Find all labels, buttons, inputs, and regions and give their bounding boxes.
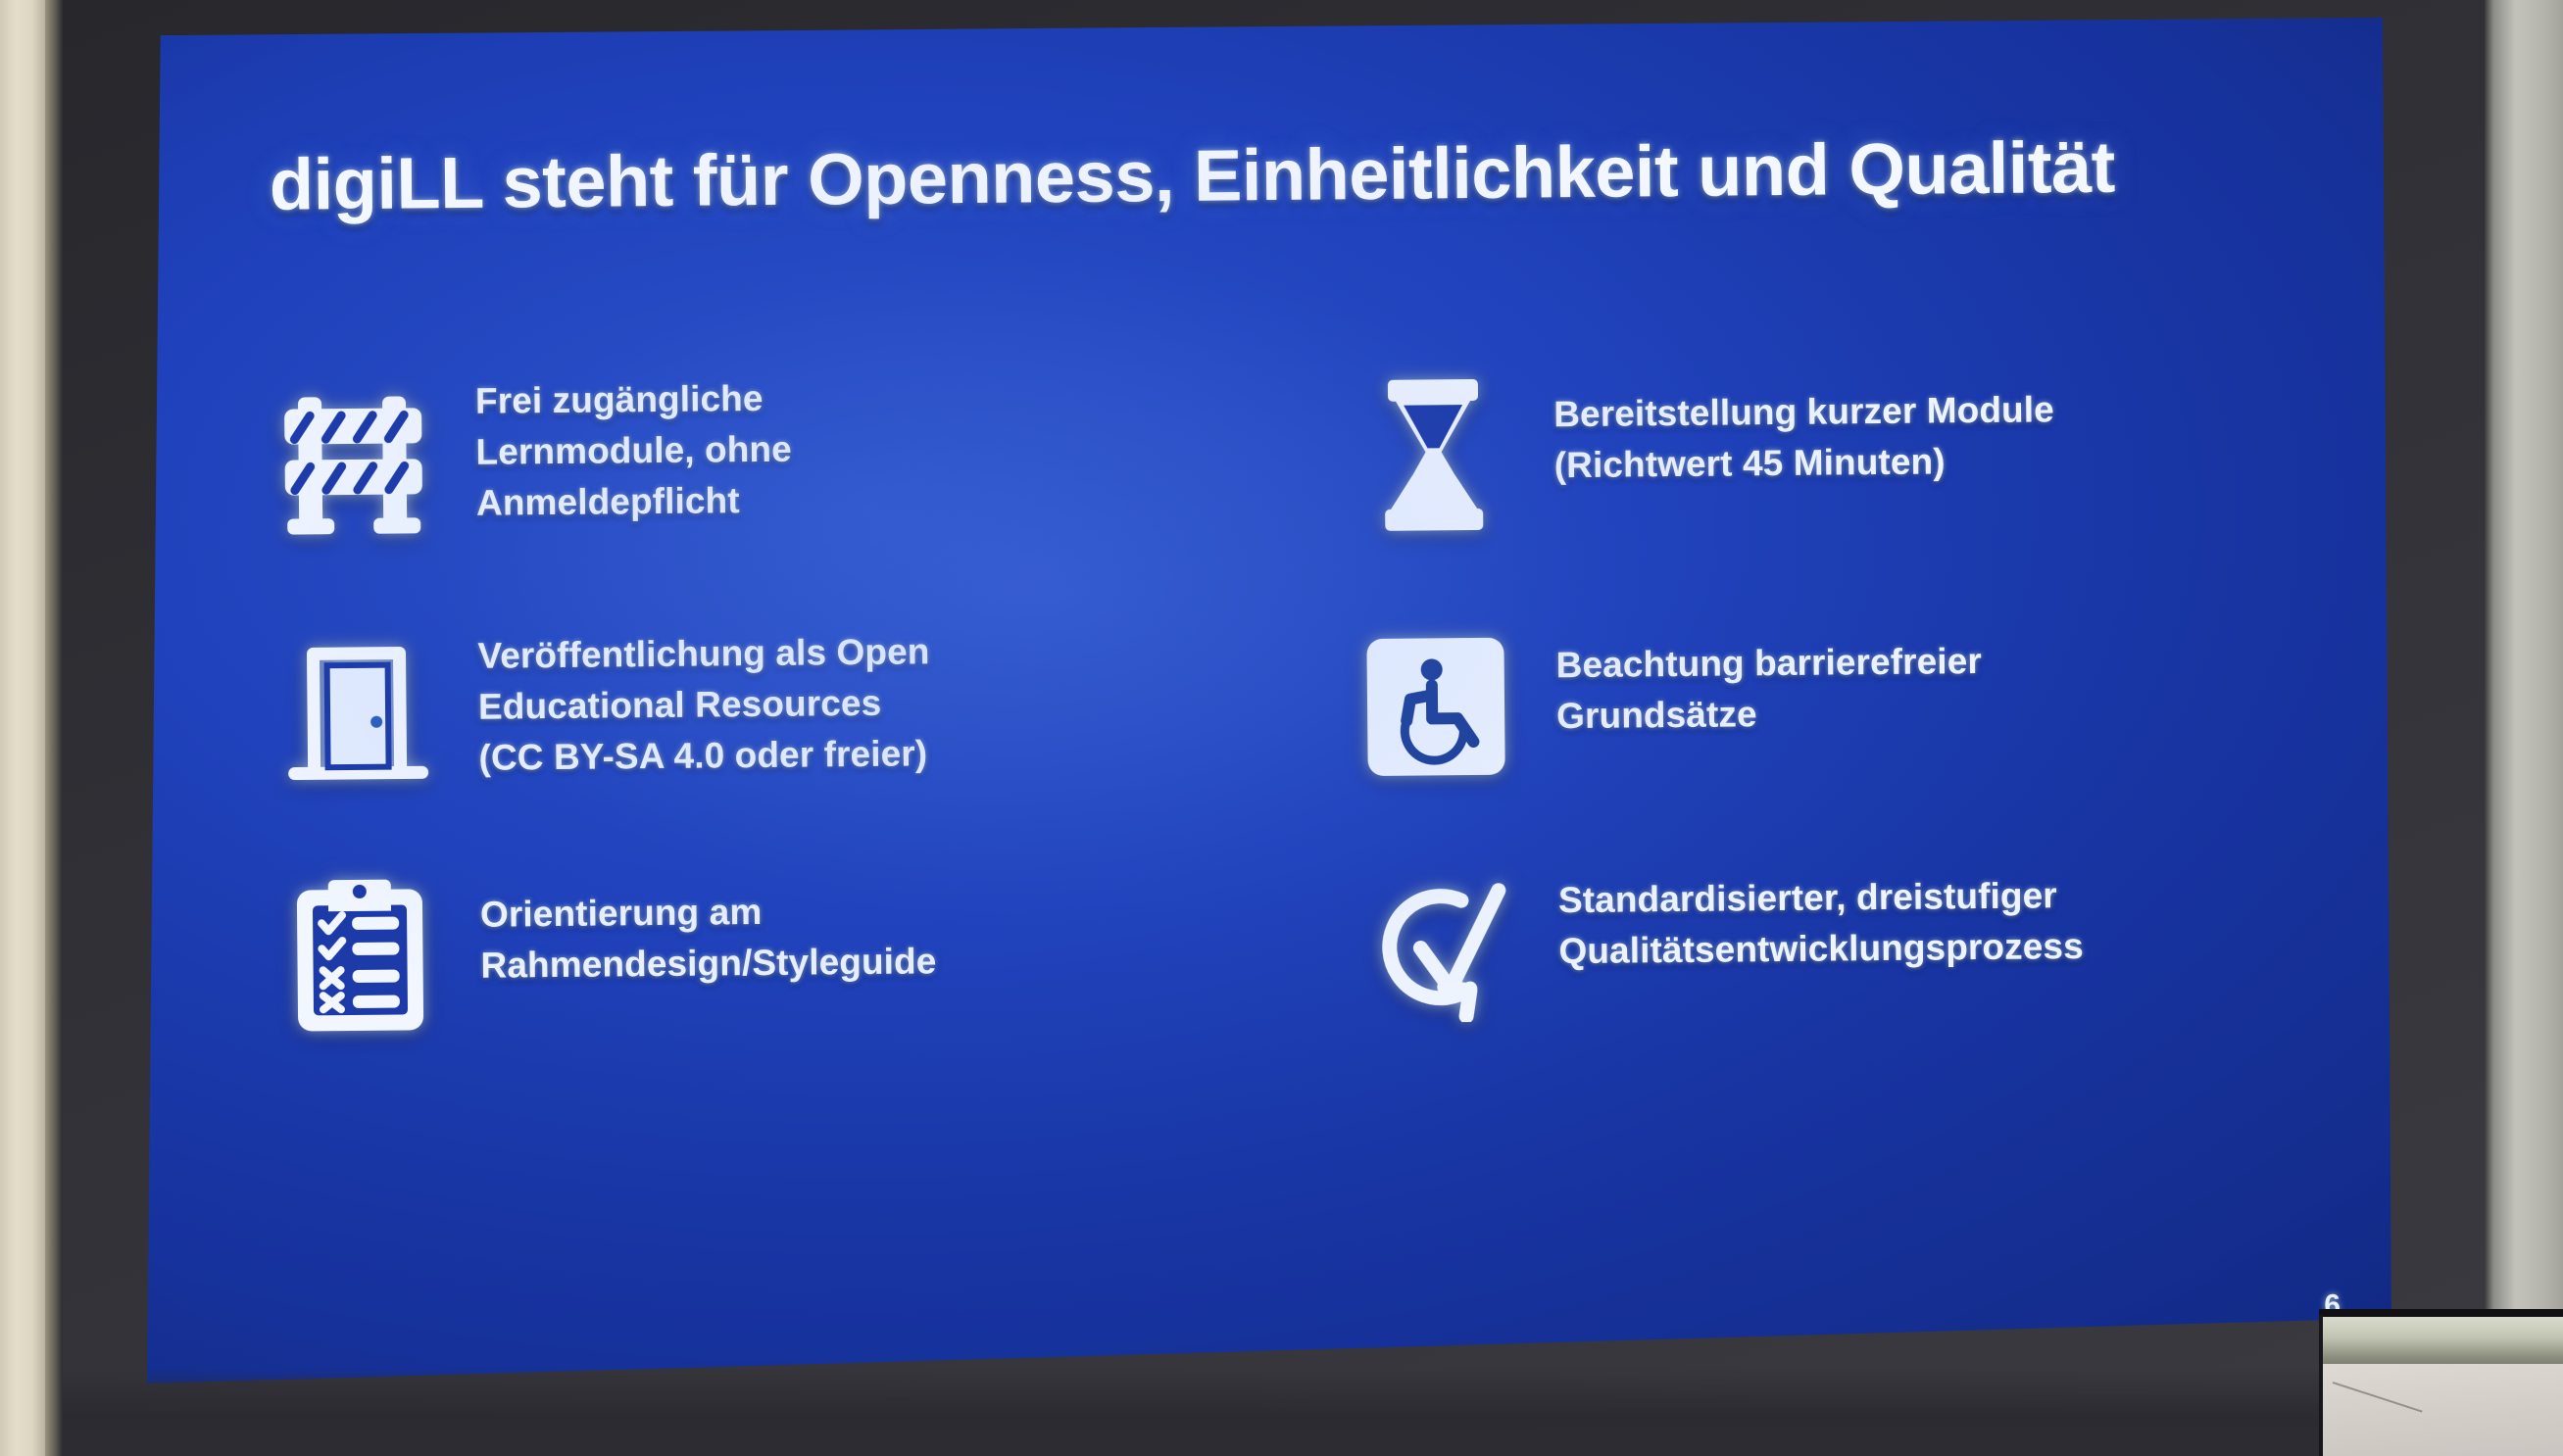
feature-item-text: Frei zugängliche Lernmodule, ohne Anmeld… xyxy=(475,367,793,528)
wheelchair-accessibility-icon xyxy=(1342,612,1530,801)
clipboard-checklist-icon xyxy=(267,860,455,1048)
cycle-checkmark-icon xyxy=(1344,849,1532,1038)
wall-left-shadow xyxy=(45,0,63,1456)
projected-slide: digiLL steht für Openness, Einheitlichke… xyxy=(147,18,2391,1383)
feature-item-orientierung-am-rahmendesign: Orientierung am Rahmendesign/Styleguide xyxy=(267,852,1288,1048)
flipchart-paper xyxy=(2323,1364,2563,1456)
photo-of-presentation-screen: digiLL steht für Openness, Einheitlichke… xyxy=(0,0,2563,1456)
feature-item-standardisierter-qualitaetsprozess: Standardisierter, dreistufiger Qualitäts… xyxy=(1285,843,2306,1039)
feature-item-text: Standardisierter, dreistufiger Qualitäts… xyxy=(1557,845,2084,977)
feature-item-text: Bereitstellung kurzer Module (Richtwert … xyxy=(1553,355,2055,490)
feature-grid: Frei zugängliche Lernmodule, ohne Anmeld… xyxy=(262,353,2307,1107)
hourglass-icon xyxy=(1340,360,1528,548)
flipchart-rail xyxy=(2323,1317,2563,1368)
open-door-icon xyxy=(264,615,452,803)
projection-screen-bezel: digiLL steht für Openness, Einheitlichke… xyxy=(63,0,2485,1456)
wall-right-strip xyxy=(2485,0,2563,1456)
wall-left-strip xyxy=(0,0,45,1456)
feature-item-beachtung-barrierefreier-grundsaetze: Beachtung barrierefreier Grundsätze xyxy=(1283,598,2304,801)
feature-item-bereitstellung-kurzer-module: Bereitstellung kurzer Module (Richtwert … xyxy=(1281,353,2302,549)
feature-item-text: Veröffentlichung als Open Educational Re… xyxy=(477,610,931,783)
feature-item-text: Orientierung am Rahmendesign/Styleguide xyxy=(480,855,937,991)
feature-item-veroeffentlichung-als-oer: Veröffentlichung als Open Educational Re… xyxy=(264,607,1285,803)
flipchart-foreground xyxy=(2319,1309,2563,1456)
road-barrier-icon xyxy=(262,370,450,558)
feature-item-frei-zugaengliche-lernmodule: Frei zugängliche Lernmodule, ohne Anmeld… xyxy=(262,363,1283,558)
page-title: digiLL steht für Openness, Einheitlichke… xyxy=(269,123,2279,226)
feature-item-text: Beachtung barrierefreier Grundsätze xyxy=(1555,601,1983,742)
